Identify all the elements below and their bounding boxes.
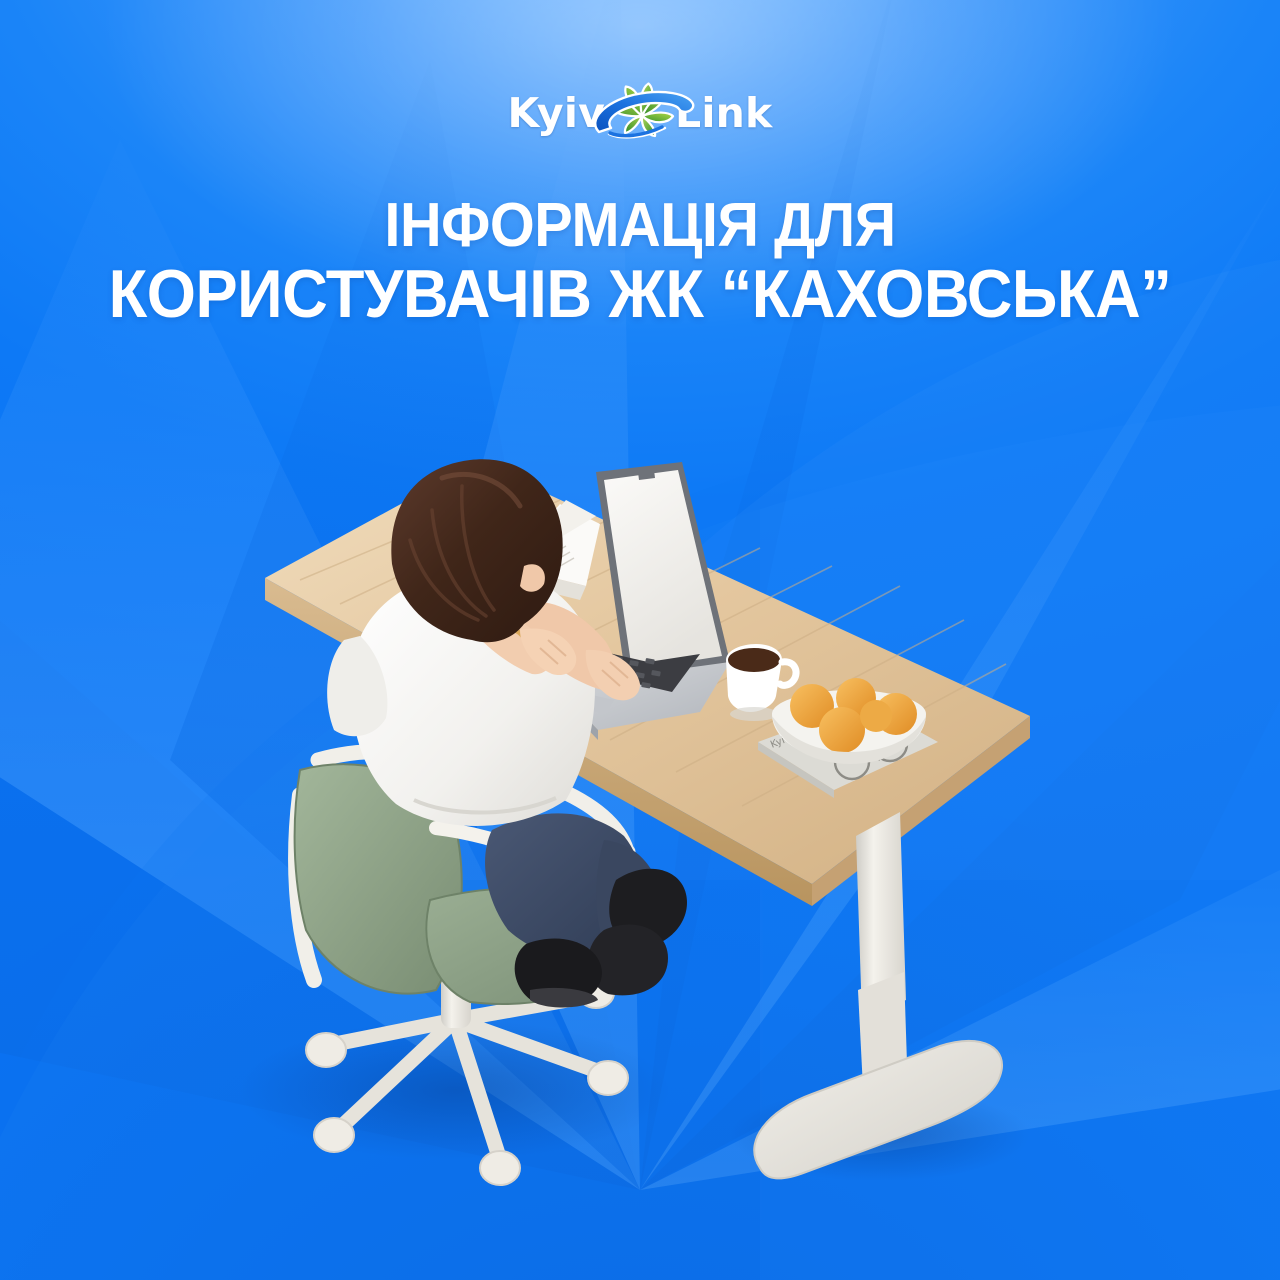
coffee-surface <box>728 648 780 672</box>
illustration-person-at-desk: Kyiv <box>0 0 1280 1280</box>
social-post-canvas: Kyiv <box>0 0 1280 1280</box>
